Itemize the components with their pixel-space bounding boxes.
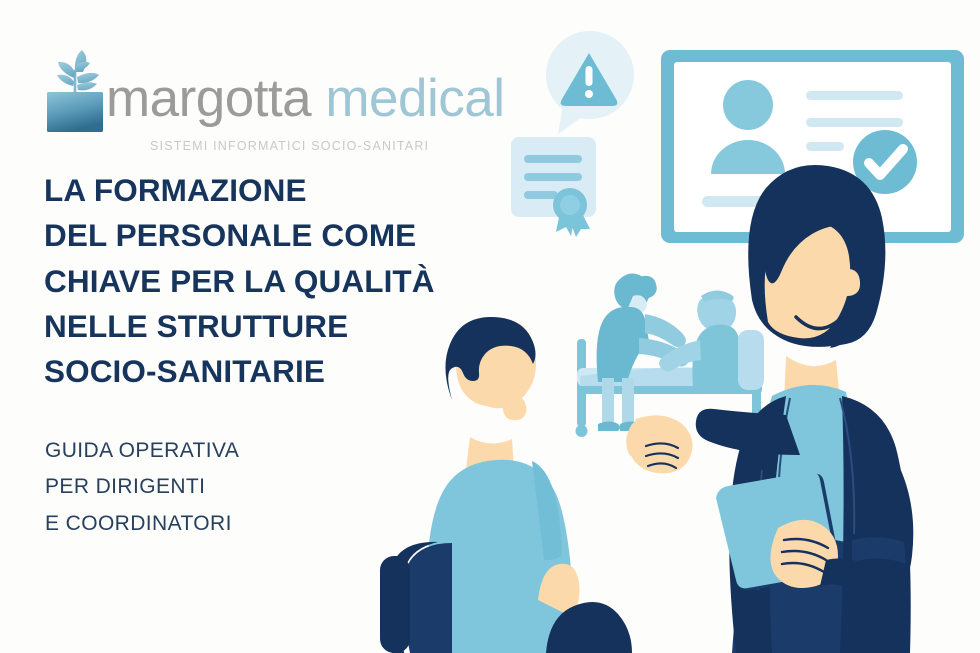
- subhead-line-2: PER DIRIGENTI: [45, 469, 375, 505]
- brand-logo: margotta medical SISTEMI INFORMATICI SOC…: [44, 46, 464, 166]
- verified-check-badge-icon: [853, 130, 917, 194]
- page-title: LA FORMAZIONE DEL PERSONALE COME CHIAVE …: [44, 168, 484, 395]
- logo-wordmark: margotta medical: [106, 72, 505, 125]
- nurse-and-patient-scene: [576, 273, 765, 437]
- logo-word-primary: margotta: [106, 69, 311, 128]
- headline-line-2: DEL PERSONALE COME: [44, 213, 484, 258]
- potted-plant-icon: [44, 48, 106, 134]
- poster-canvas: margotta medical SISTEMI INFORMATICI SOC…: [0, 0, 980, 653]
- headline-line-1: LA FORMAZIONE: [44, 168, 484, 213]
- tablet-device: [716, 472, 840, 591]
- headline-line-5: SOCIO-SANITARIE: [44, 349, 484, 394]
- logo-tagline: SISTEMI INFORMATICI SOCIO-SANITARI: [150, 139, 429, 153]
- headline-line-3: CHIAVE PER LA QUALITÀ: [44, 259, 484, 304]
- standing-woman-figure: [626, 165, 913, 653]
- subhead-line-1: GUIDA OPERATIVA: [45, 433, 375, 469]
- certificate-document-icon: [511, 137, 596, 237]
- logo-word-secondary: medical: [325, 69, 504, 128]
- holding-hand: [770, 520, 838, 588]
- nurse-figure: [597, 273, 689, 431]
- alert-speech-bubble-icon: [546, 31, 634, 134]
- headline-line-4: NELLE STRUTTURE: [44, 304, 484, 349]
- subhead-line-3: E COORDINATORI: [45, 506, 375, 542]
- patient-figure: [659, 290, 764, 390]
- id-card-screen: [661, 50, 964, 243]
- page-subtitle: GUIDA OPERATIVA PER DIRIGENTI E COORDINA…: [45, 433, 375, 542]
- avatar: [711, 80, 785, 174]
- pointing-hand: [626, 415, 692, 473]
